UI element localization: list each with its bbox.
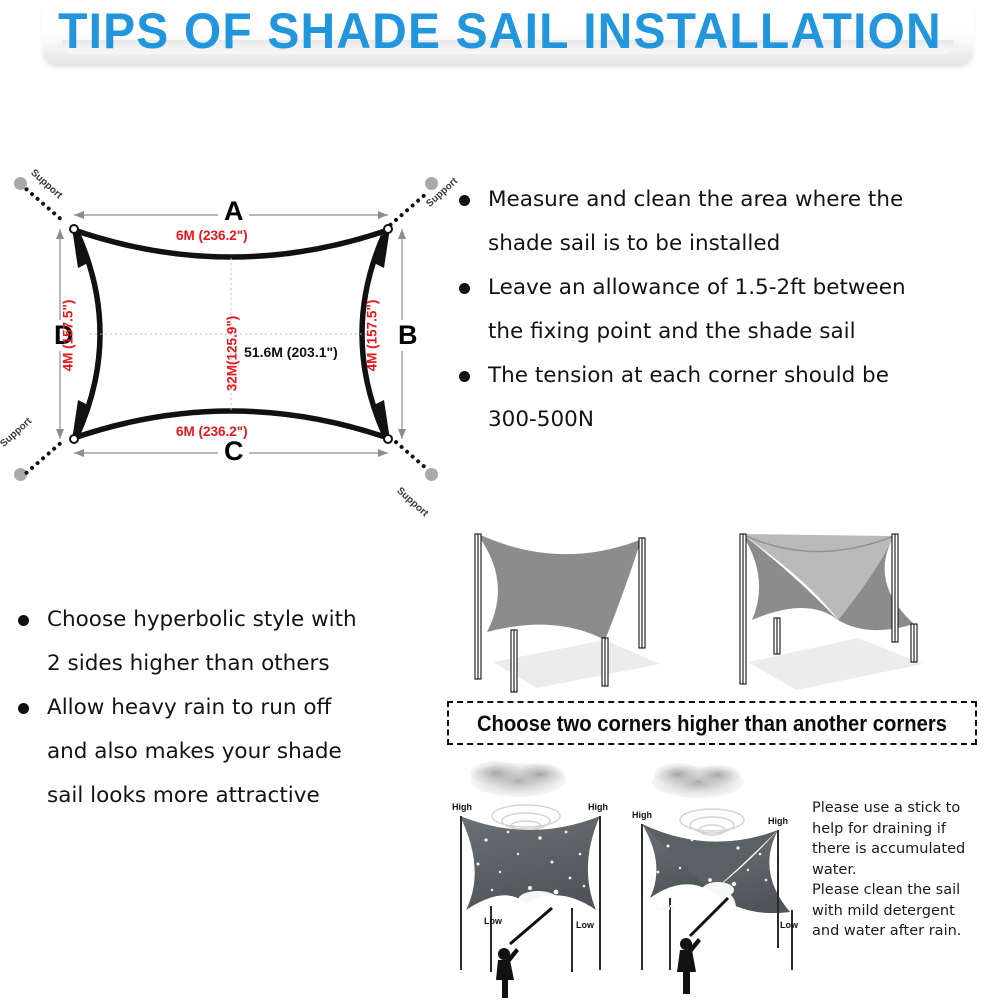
list-item: Leave an allowance of 1.5-2ft between th…	[455, 266, 1000, 354]
list-item-line: 2 sides higher than others	[47, 642, 444, 686]
list-item-line: the fixing point and the shade sail	[488, 310, 1000, 354]
list-item-line: Choose hyperbolic style with	[47, 598, 444, 642]
corner-label-high-left: High	[452, 802, 472, 812]
person-silhouette	[677, 938, 701, 994]
corner-label-high-right: High	[588, 802, 608, 812]
edge-measure-b: 4M (157.5")	[365, 286, 380, 386]
corner-label-low-left: Low	[656, 902, 675, 912]
list-item: Choose hyperbolic style with 2 sides hig…	[14, 598, 444, 686]
title-banner: TIPS OF SHADE SAIL INSTALLATION	[0, 0, 1000, 78]
list-item-line: sail looks more attractive	[47, 774, 444, 818]
list-item-line: shade sail is to be installed	[488, 222, 1000, 266]
maintenance-note: Please use a stick to help for draining …	[812, 798, 1000, 942]
edge-measure-d: 4M (157.5")	[61, 286, 76, 386]
edge-measure-a: 6M (236.2")	[176, 228, 248, 243]
cloud-icon	[470, 761, 566, 797]
shade-sail-rain-pooling: High High Low Low	[448, 758, 628, 998]
edge-measure-c: 6M (236.2")	[176, 424, 248, 439]
list-item: The tension at each corner should be 300…	[455, 354, 1000, 442]
cloud-icon	[652, 763, 744, 798]
list-item-line: and also makes your shade	[47, 730, 444, 774]
caption-box: Choose two corners higher than another c…	[447, 701, 977, 745]
note-line: water.	[812, 860, 1000, 881]
tips-list-hyperbolic: Choose hyperbolic style with 2 sides hig…	[14, 598, 444, 818]
shade-sail-dimension-diagram: Support Support Support Support	[0, 150, 470, 510]
list-item-line: The tension at each corner should be	[488, 354, 1000, 398]
list-item: Allow heavy rain to run off and also mak…	[14, 686, 444, 818]
note-line: with mild detergent	[812, 901, 1000, 922]
list-item-line: Measure and clean the area where the	[488, 178, 1000, 222]
list-item: Measure and clean the area where the sha…	[455, 178, 1000, 266]
edge-letter-a: A	[218, 198, 249, 225]
edge-letter-b: B	[394, 320, 421, 351]
tips-list-installation: Measure and clean the area where the sha…	[455, 178, 1000, 442]
note-line: and water after rain.	[812, 921, 1000, 942]
list-item-line: Leave an allowance of 1.5-2ft between	[488, 266, 1000, 310]
shade-sail-two-high-corners	[455, 512, 665, 697]
corner-label-high-left: High	[632, 810, 652, 820]
shade-sail-rain-runoff: High High Low Low	[620, 758, 810, 998]
edge-letter-c: C	[218, 438, 249, 465]
corner-label-high-right: High	[768, 816, 788, 826]
note-line: Please use a stick to	[812, 798, 1000, 819]
list-item-line: 300-500N	[488, 398, 1000, 442]
note-line: help for draining if	[812, 819, 1000, 840]
person-silhouette	[496, 948, 519, 998]
note-line: Please clean the sail	[812, 880, 1000, 901]
shade-sail-hyperbolic	[718, 512, 938, 697]
center-vertical-measure: 32M(125.9")	[225, 302, 240, 406]
corner-label-low-right: Low	[576, 920, 595, 930]
corner-label-low-right: Low	[780, 920, 799, 930]
corner-label-low-left: Low	[484, 916, 503, 926]
note-line: there is accumulated	[812, 839, 1000, 860]
list-item-line: Allow heavy rain to run off	[47, 686, 444, 730]
page-title: TIPS OF SHADE SAIL INSTALLATION	[20, 0, 980, 64]
center-horizontal-measure: 51.6M (203.1")	[244, 344, 338, 360]
caption-text: Choose two corners higher than another c…	[470, 703, 954, 743]
